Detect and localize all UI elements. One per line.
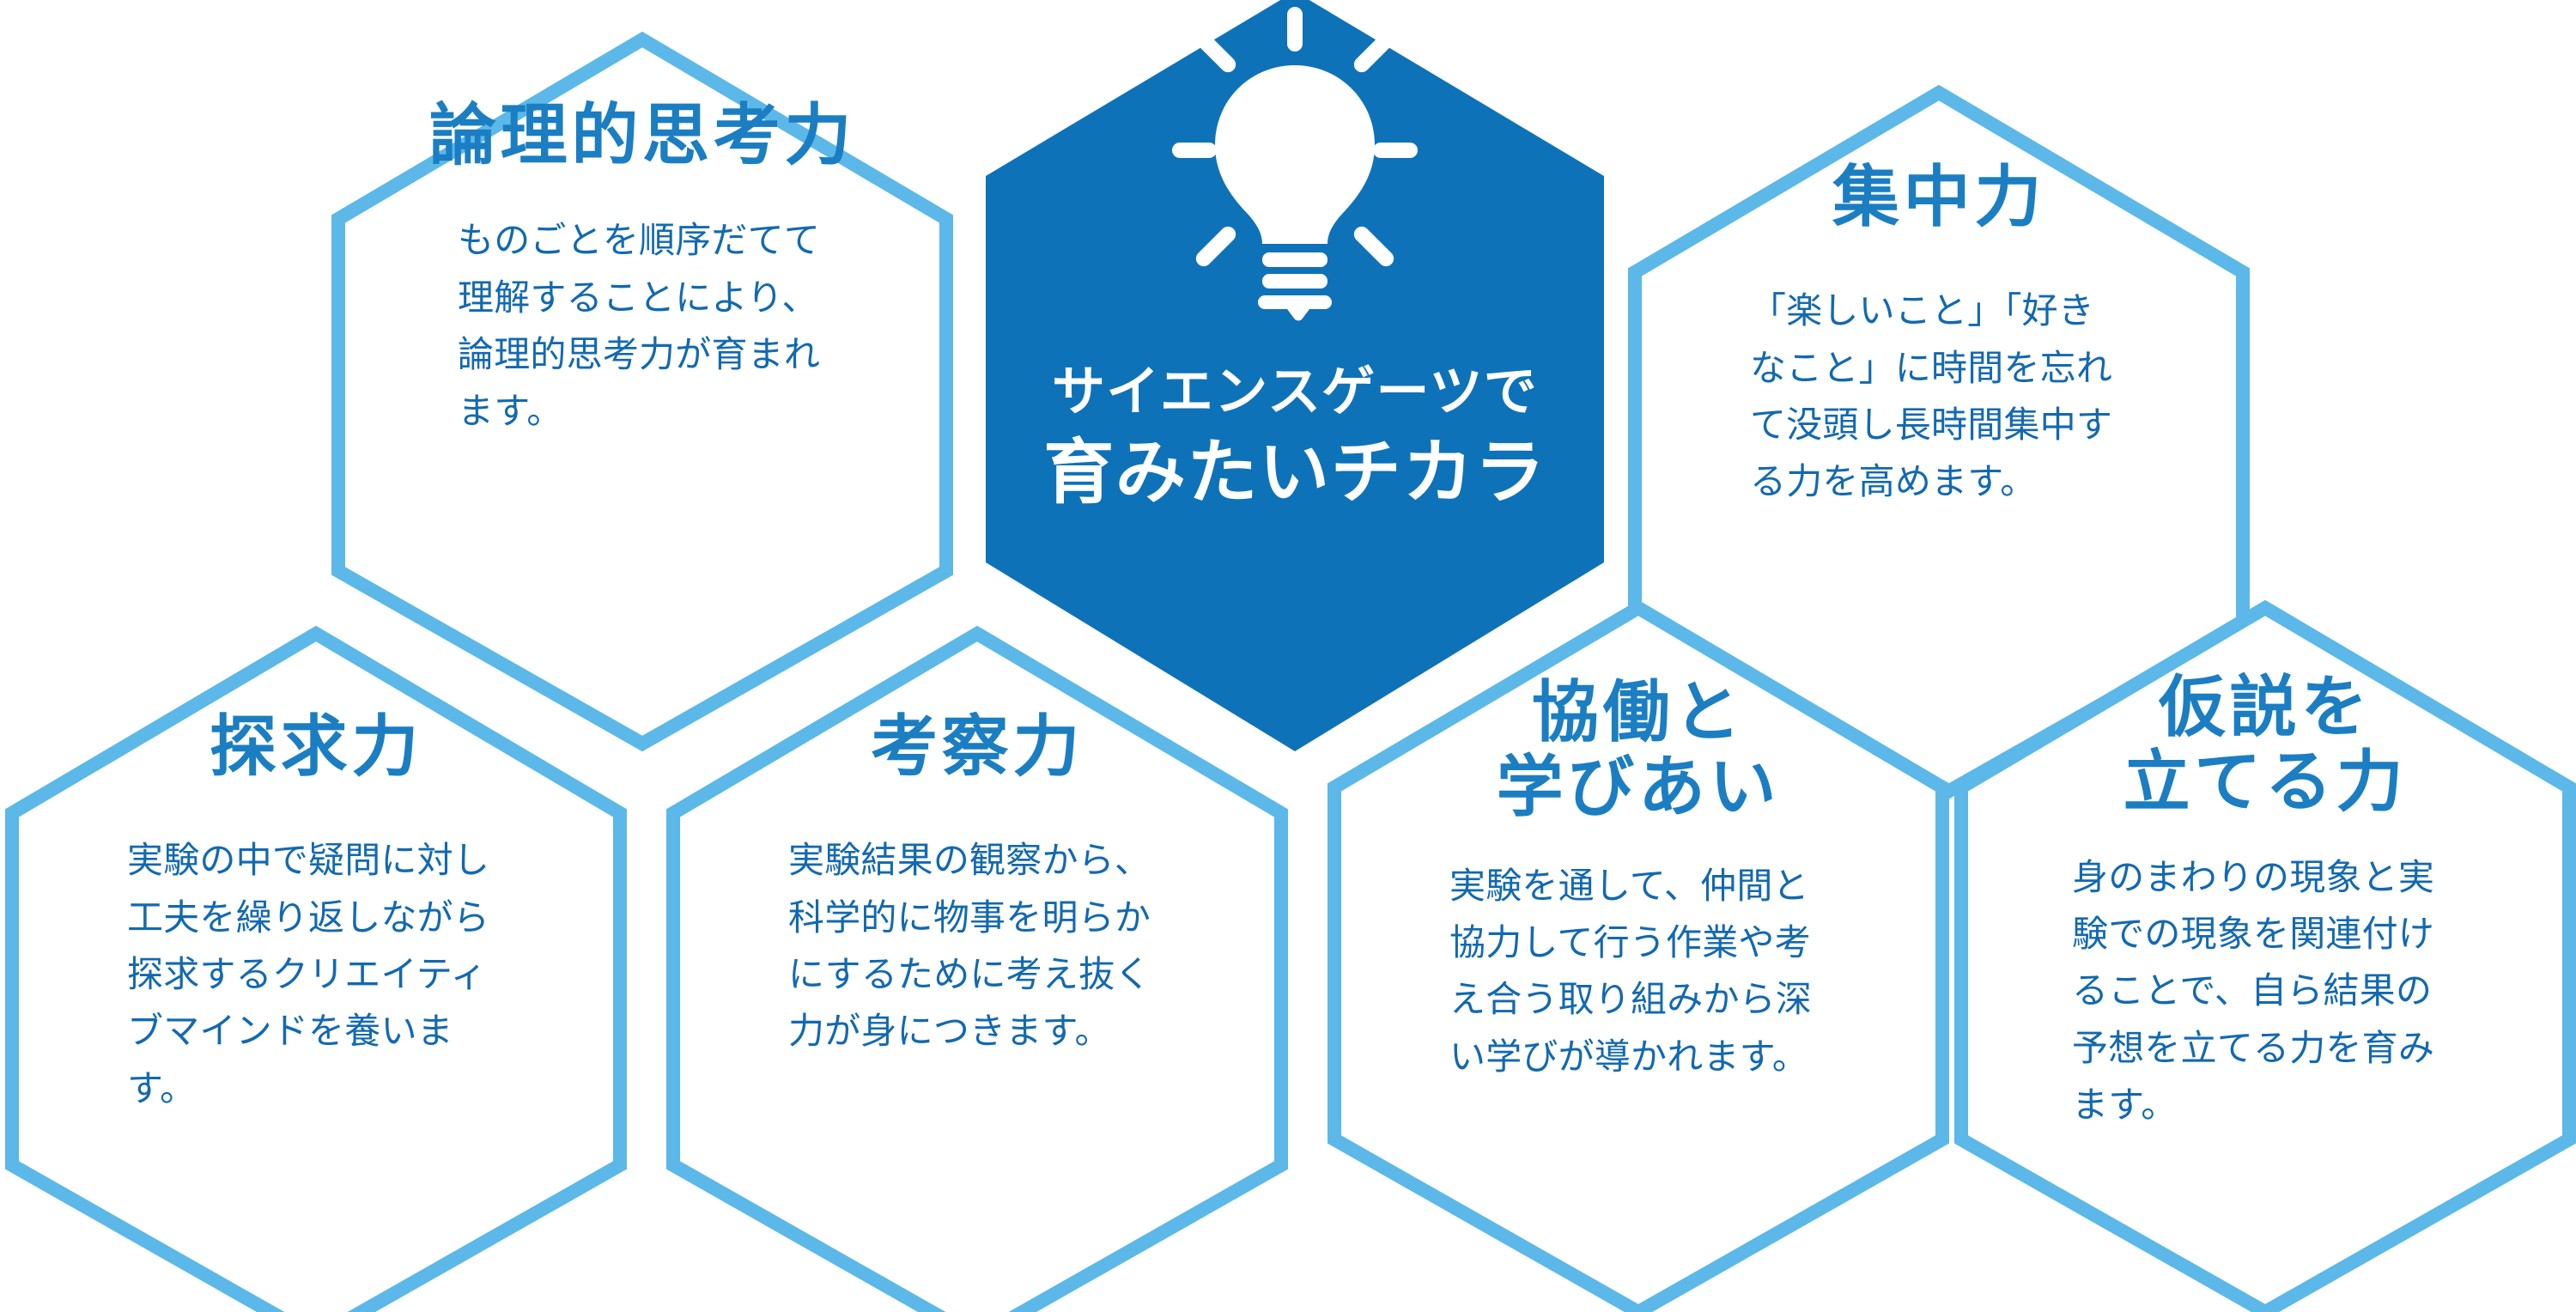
hex-card-collaboration: 協働と 学びあい 実験を通して、仲間と協力して行う作業や考え合う取り組みから深い…	[1327, 601, 1949, 1312]
card-body: 身のまわりの現象と実験での現象を関連付けることで、自ら結果の予想を立てる力を育み…	[2072, 849, 2458, 1134]
card-title: 仮説を 立てる力	[2123, 670, 2408, 820]
card-body: ものごとを順序だてて理解することにより、論理的思考力が育まれます。	[458, 212, 827, 440]
center-title-line2: 育みたいチカラ	[1043, 431, 1546, 515]
card-title: 協働と 学びあい	[1497, 675, 1781, 825]
card-title: 論理的思考力	[429, 98, 855, 173]
hex-card-consideration: 考察力 実験結果の観察から、科学的に物事を明らかにするために考え抜く力が身につき…	[666, 627, 1288, 1312]
hex-card-inquiry: 探求力 実験の中で疑問に対し工夫を繰り返しながら探求するクリエイティブマインドを…	[5, 627, 627, 1312]
card-body: 実験を通して、仲間と協力して行う作業や考え合う取り組みから深い学びが導かれます。	[1449, 858, 1827, 1085]
card-title: 考察力	[871, 709, 1084, 784]
center-title-line1: サイエンスゲーツで	[1052, 361, 1538, 424]
card-title: 探求力	[210, 709, 422, 784]
card-body: 実験結果の観察から、科学的に物事を明らかにするために考え抜く力が身につきます。	[788, 832, 1166, 1060]
hex-card-hypothesis: 仮説を 立てる力 身のまわりの現象と実験での現象を関連付けることで、自ら結果の予…	[1954, 601, 2576, 1312]
infographic-canvas: 論理的思考力 ものごとを順序だてて理解することにより、論理的思考力が育まれます。	[0, 0, 2576, 1312]
card-title: 集中力	[1832, 160, 2045, 234]
card-body: 「楽しいこと」「好きなこと」に時間を忘れて没頭し長時間集中する力を高めます。	[1750, 282, 2128, 510]
card-body: 実験の中で疑問に対し工夫を繰り返しながら探求するクリエイティブマインドを養います…	[127, 832, 505, 1117]
